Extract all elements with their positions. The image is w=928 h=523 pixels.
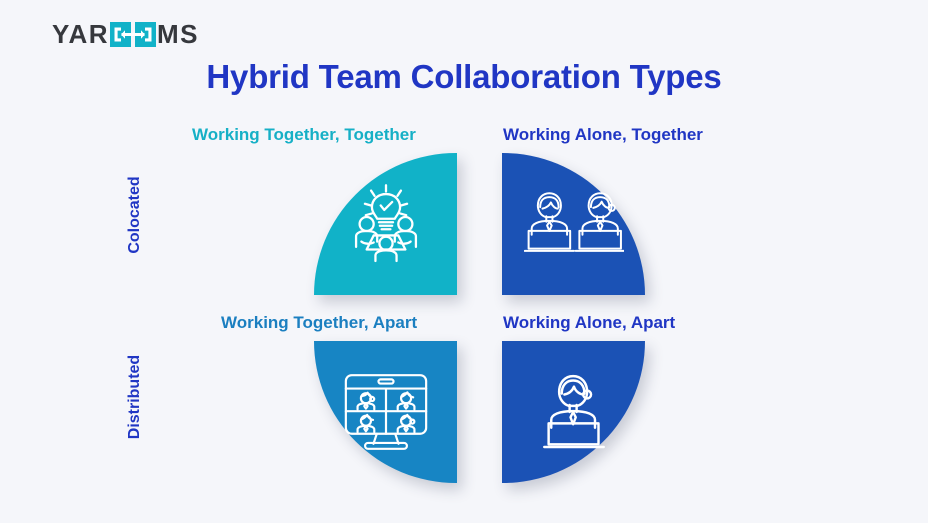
axis-label-colocated: Colocated [126,155,144,275]
axis-label-distributed: Distributed [126,332,144,462]
team-meeting-lightbulb-icon [342,180,430,268]
quadrant-label-working-together-apart: Working Together, Apart [221,313,417,333]
video-conference-monitor-icon [340,370,432,454]
quadrant-working-together-apart[interactable] [314,341,457,483]
two-people-at-desks-icon [524,187,624,261]
quadrant-working-together-together[interactable] [314,153,457,295]
quadrant-label-working-alone-together: Working Alone, Together [503,125,703,145]
quadrant-label-working-together-together: Working Together, Together [192,125,416,145]
quadrant-label-working-alone-apart: Working Alone, Apart [503,313,675,333]
quadrant-working-alone-apart[interactable] [502,341,645,483]
single-person-at-desk-icon [534,370,614,454]
collaboration-matrix: Colocated Distributed Working Together, … [0,0,928,523]
quadrant-working-alone-together[interactable] [502,153,645,295]
